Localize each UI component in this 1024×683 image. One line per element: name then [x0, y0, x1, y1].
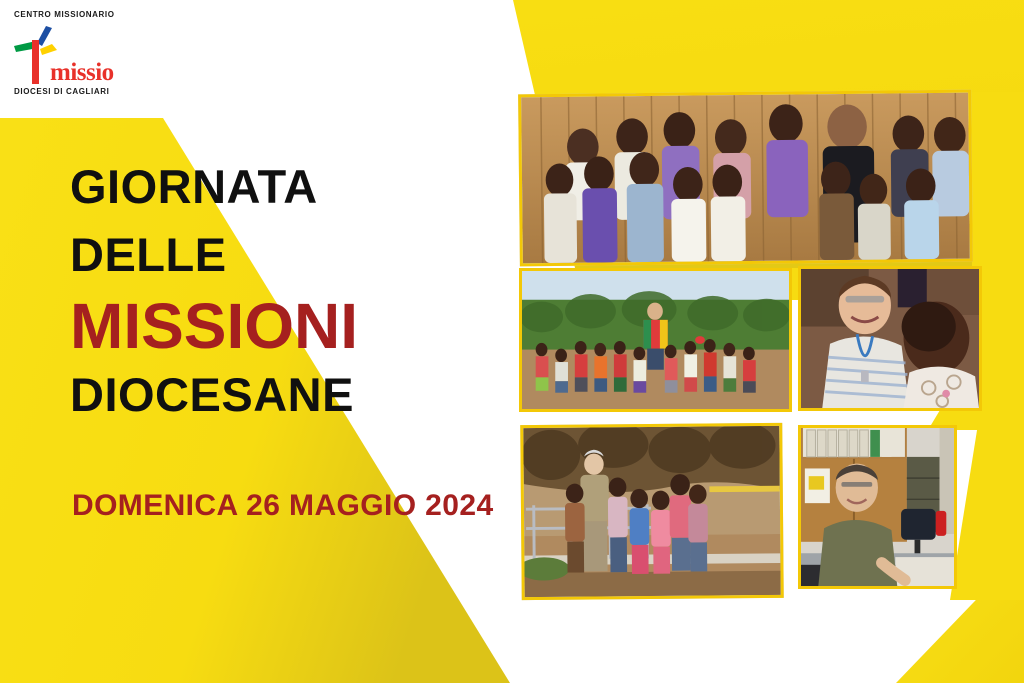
headline-block: GIORNATA DELLE MISSIONI DIOCESANE — [70, 160, 540, 422]
photo-children-field — [519, 268, 792, 412]
poster-root: CENTRO MISSIONARIO missio DIOCESI DI CAG… — [0, 0, 1024, 683]
shape-yellow-mid-notch — [972, 92, 1024, 268]
headline-line-3-missioni: MISSIONI — [70, 292, 540, 360]
shape-yellow-right-strip — [950, 424, 1024, 600]
event-date: DOMENICA 26 MAGGIO 2024 — [72, 489, 494, 523]
logo-top-text: CENTRO MISSIONARIO — [14, 10, 154, 20]
headline-line-1: GIORNATA — [70, 160, 540, 214]
headline-line-2: DELLE — [70, 228, 540, 282]
photo-man-desk — [798, 425, 957, 589]
photo-woman-child — [798, 266, 982, 411]
logo-wordmark: missio — [50, 60, 114, 85]
photo-group-large — [518, 90, 973, 267]
photo-group-rocks — [520, 423, 784, 600]
logo-bottom-text: DIOCESI DI CAGLIARI — [14, 87, 109, 97]
logo-missio: CENTRO MISSIONARIO missio DIOCESI DI CAG… — [14, 10, 154, 105]
headline-line-4: DIOCESANE — [70, 368, 540, 422]
